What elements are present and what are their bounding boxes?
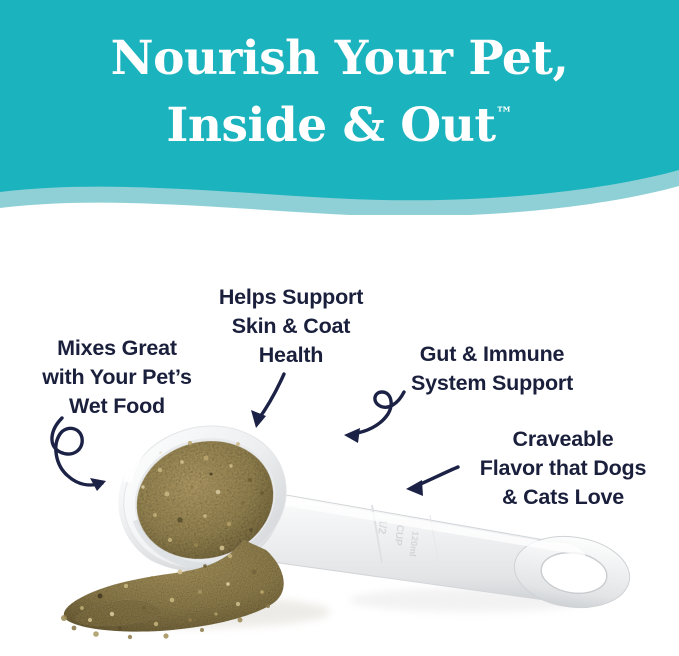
callout-skin-line-2: Skin & Coat (196, 312, 386, 341)
promo-graphic: Nourish Your Pet, Inside & Out™ (0, 0, 679, 656)
callout-gut-immune: Gut & Immune System Support (392, 340, 592, 398)
callout-gut-line-1: Gut & Immune (392, 340, 592, 369)
callout-mixes-line-3: Wet Food (22, 392, 212, 421)
callout-mixes-line-2: with Your Pet’s (22, 363, 212, 392)
callout-craveable-flavor: Craveable Flavor that Dogs & Cats Love (452, 425, 674, 513)
callout-mixes-great: Mixes Great with Your Pet’s Wet Food (22, 334, 212, 422)
callout-skin-coat: Helps Support Skin & Coat Health (196, 283, 386, 371)
callout-mixes-line-1: Mixes Great (22, 334, 212, 363)
callout-gut-line-2: System Support (392, 369, 592, 398)
callout-skin-line-1: Helps Support (196, 283, 386, 312)
callout-skin-line-3: Health (196, 341, 386, 370)
callout-crave-line-2: Flavor that Dogs (452, 454, 674, 483)
callout-crave-line-3: & Cats Love (452, 483, 674, 512)
callout-crave-line-1: Craveable (452, 425, 674, 454)
